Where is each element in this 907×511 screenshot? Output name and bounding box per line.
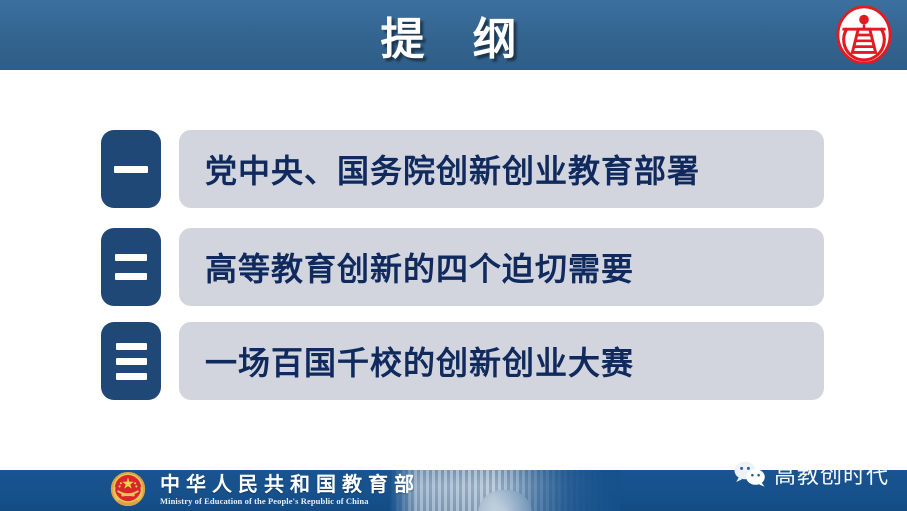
badge-bar	[116, 358, 147, 365]
badge-bar	[115, 254, 147, 261]
outline-item-label: 高等教育创新的四个迫切需要	[179, 244, 634, 290]
list-item[interactable]: 三 一场百国千校的创新创业大赛	[0, 322, 907, 400]
china-national-emblem	[107, 468, 149, 510]
outline-pill[interactable]: 高等教育创新的四个迫切需要	[179, 228, 824, 306]
list-item[interactable]: 一 党中央、国务院创新创业教育部署	[0, 130, 907, 208]
watermark-label: 高教创时代	[774, 458, 889, 490]
ministry-name-en: Ministry of Education of the People's Re…	[160, 496, 450, 506]
list-item[interactable]: 二 高等教育创新的四个迫切需要	[0, 228, 907, 306]
outline-item-label: 一场百国千校的创新创业大赛	[179, 338, 634, 384]
numeral-three-badge: 三	[101, 322, 161, 400]
page-title: 提 纲	[0, 0, 907, 70]
numeral-two-badge: 二	[101, 228, 161, 306]
building-dome	[478, 490, 532, 511]
numeral-one-badge: 一	[101, 130, 161, 208]
outline-list: 一 党中央、国务院创新创业教育部署 二 高等教育创新的四个迫切需要 三	[0, 70, 907, 470]
red-circle-tower-logo	[835, 6, 893, 64]
slide-root: 提 纲 一 党中央、国务院创新创业教育部署	[0, 0, 907, 511]
outline-pill[interactable]: 党中央、国务院创新创业教育部署	[179, 130, 824, 208]
badge-bar	[116, 373, 147, 380]
badge-bar	[116, 343, 147, 350]
ministry-name-block: 中华人民共和国教育部 Ministry of Education of the …	[160, 469, 450, 511]
badge-bar	[114, 166, 148, 173]
slide-header: 提 纲	[0, 0, 907, 70]
outline-item-label: 党中央、国务院创新创业教育部署	[179, 146, 700, 192]
outline-pill[interactable]: 一场百国千校的创新创业大赛	[179, 322, 824, 400]
watermark: 高教创时代	[733, 457, 889, 491]
wechat-icon	[733, 460, 767, 488]
ministry-name-cn: 中华人民共和国教育部	[160, 474, 450, 496]
badge-bar	[115, 273, 147, 280]
